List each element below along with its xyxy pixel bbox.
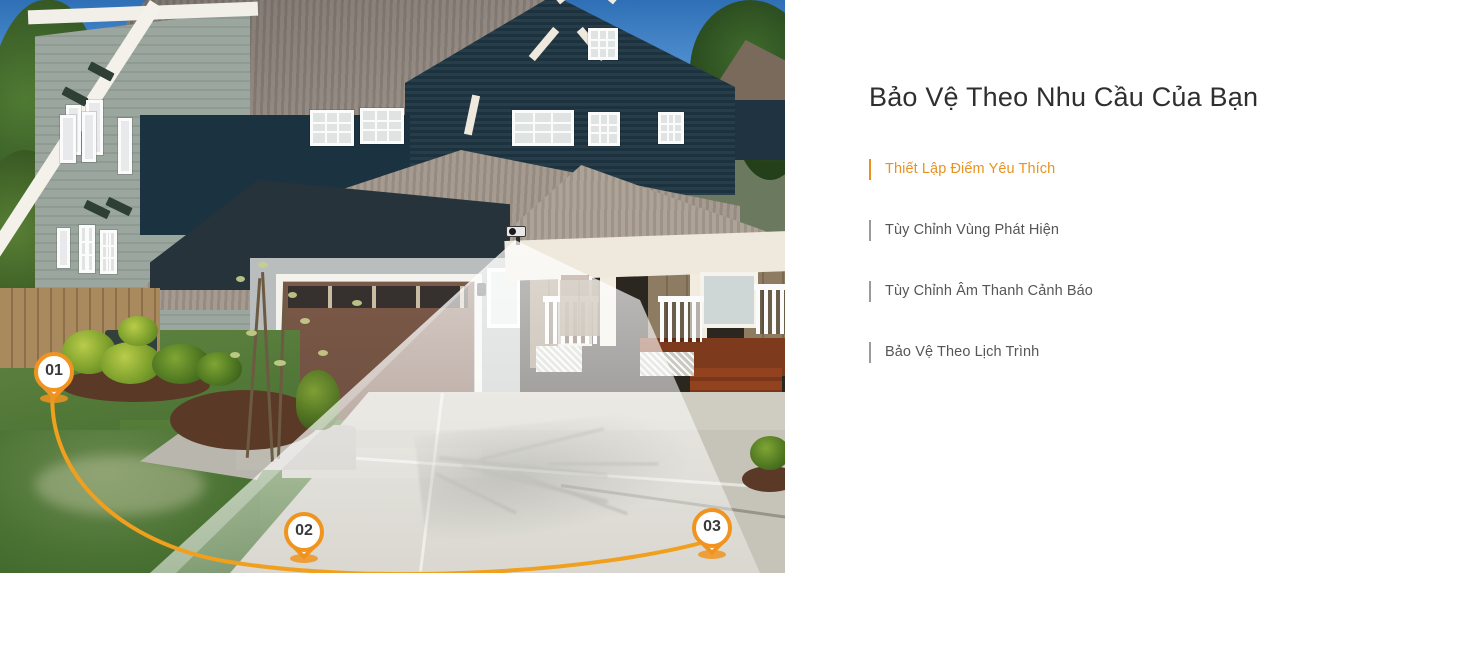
feature-item-label: Bảo Vệ Theo Lịch Trình [885,344,1039,360]
ornamental-grass [296,370,340,430]
foliage [288,292,297,298]
promo-section: 01 02 03 Bảo Vệ Theo Nhu Cầu Của Bạn Thi… [0,0,1475,573]
pin-base-icon [290,554,318,563]
zone-marker-03[interactable]: 03 [692,508,732,560]
foliage [318,350,328,356]
foliage [230,352,240,358]
window [310,110,354,146]
lattice-vent [536,346,582,372]
window [360,108,404,144]
accent-bar [869,342,871,363]
porch-railing [660,300,702,342]
window [118,118,132,174]
railing-cap [754,284,785,290]
porch-railing [756,288,785,334]
shrub [118,316,158,346]
window [512,110,574,146]
zone-marker-label: 01 [34,352,74,392]
foliage [352,300,362,306]
feature-item-favorite-spots[interactable]: Thiết Lập Điểm Yêu Thích [869,157,1475,181]
zone-marker-label: 02 [284,512,324,552]
foliage [258,262,268,268]
feature-item-label: Tùy Chỉnh Âm Thanh Cảnh Báo [885,283,1093,299]
feature-item-label: Tùy Chỉnh Vùng Phát Hiện [885,222,1059,238]
window [100,230,117,274]
stone-veneer [560,280,600,336]
feature-item-detection-zone[interactable]: Tùy Chỉnh Vùng Phát Hiện [869,218,1475,242]
exterior-lamp [477,283,486,296]
window [658,112,684,144]
zone-marker-01[interactable]: 01 [34,352,74,404]
accent-bar [869,220,871,241]
camera-coverage-photo: 01 02 03 [0,0,785,573]
window [57,228,70,268]
accent-bar [869,281,871,302]
feature-info-panel: Bảo Vệ Theo Nhu Cầu Của Bạn Thiết Lập Đi… [785,0,1475,655]
foliage [300,318,310,324]
window [79,225,95,273]
shrub [750,436,785,470]
lattice-vent [640,352,694,376]
foliage [246,330,257,336]
window [82,112,96,162]
accent-bar [869,159,871,180]
feature-item-label: Thiết Lập Điểm Yêu Thích [885,161,1055,177]
page-title: Bảo Vệ Theo Nhu Cầu Của Bạn [869,82,1475,113]
zone-marker-label: 03 [692,508,732,548]
feature-item-alert-sound[interactable]: Tùy Chỉnh Âm Thanh Cảnh Báo [869,279,1475,303]
attic-window [588,28,618,60]
zone-marker-02[interactable]: 02 [284,512,324,564]
window [700,272,758,328]
feature-list: Thiết Lập Điểm Yêu Thích Tùy Chỉnh Vùng … [869,157,1475,364]
pin-base-icon [40,394,68,403]
camera-lens-icon [509,228,516,235]
foliage [236,276,245,282]
pin-base-icon [698,550,726,559]
window [588,112,620,146]
window [60,115,76,163]
foliage [274,360,286,366]
railing-cap [658,296,704,302]
feature-item-schedule[interactable]: Bảo Vệ Theo Lịch Trình [869,340,1475,364]
